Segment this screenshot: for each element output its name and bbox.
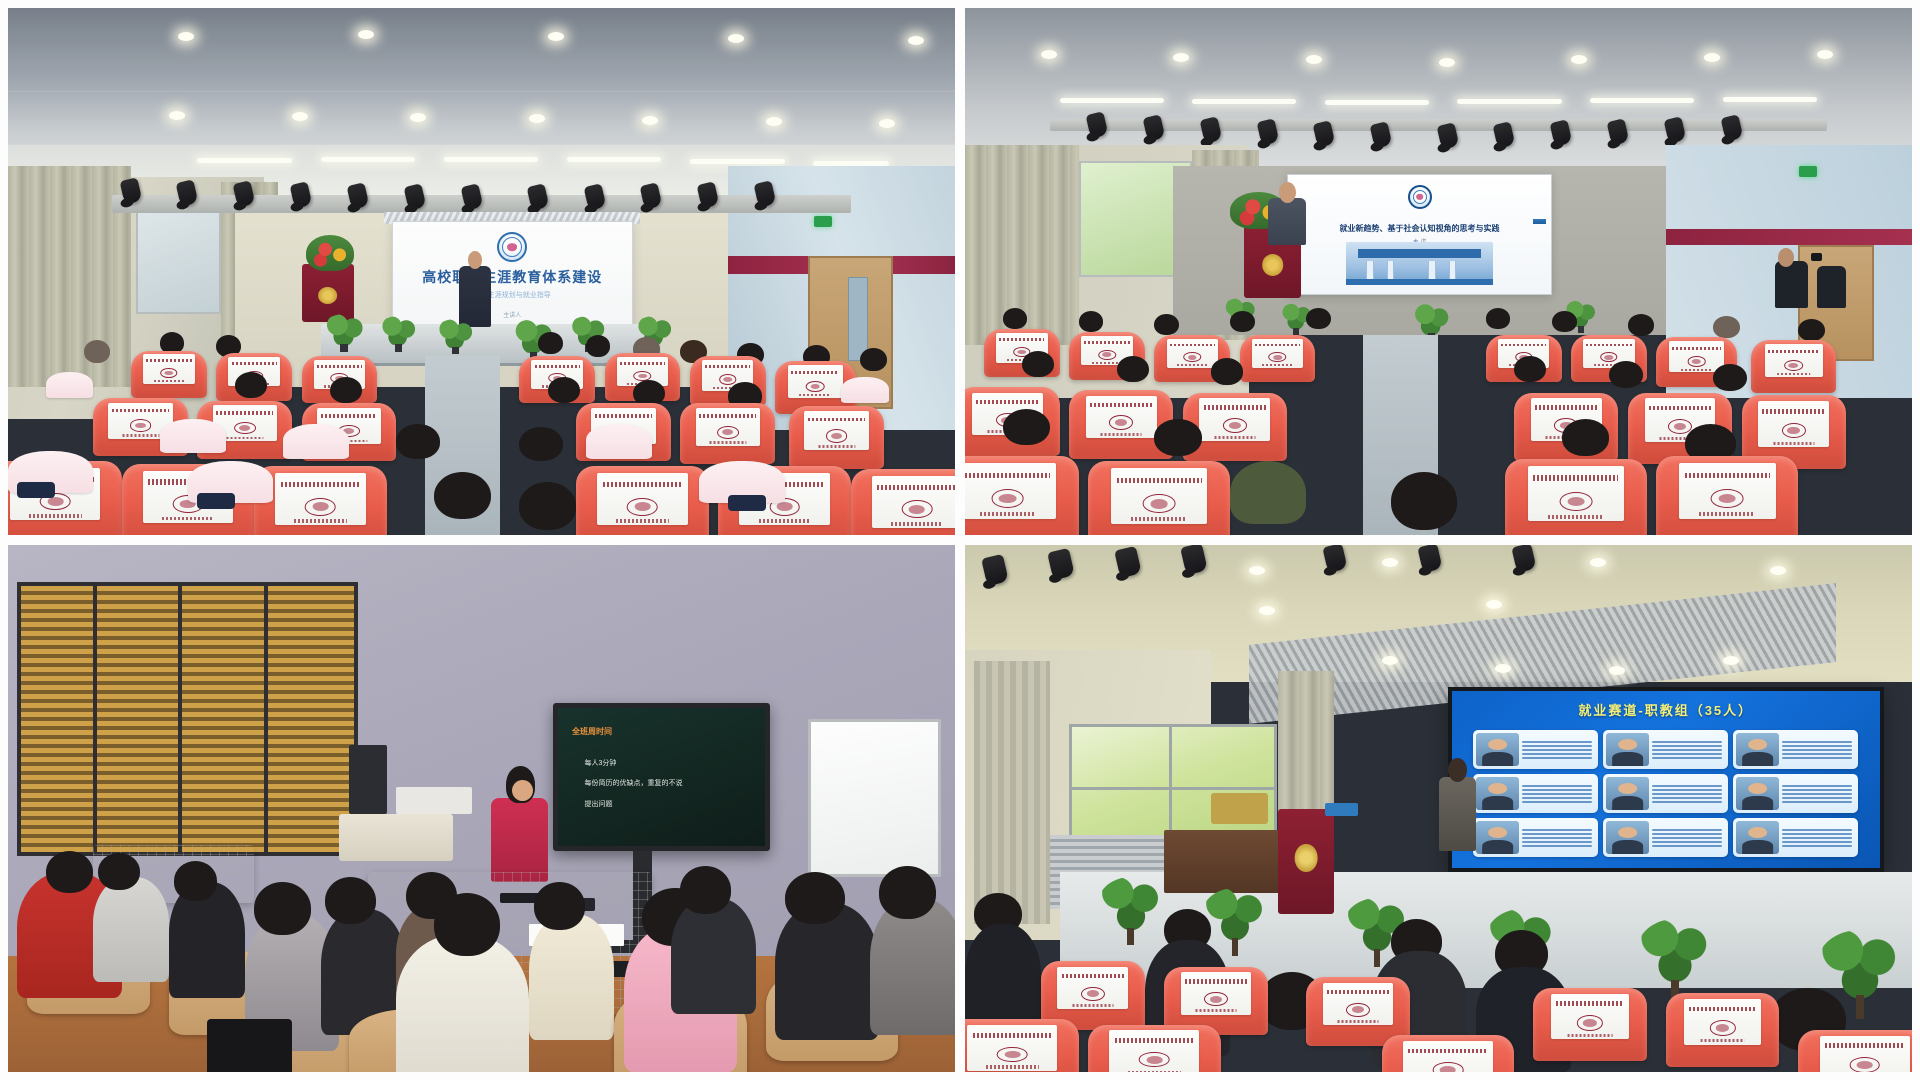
seat-banner (1684, 999, 1761, 1045)
equipment-cabinet (349, 745, 387, 814)
presenter-figure (491, 798, 548, 882)
seat-banner (275, 473, 365, 525)
nurse-cap (283, 424, 349, 458)
audience-head (1713, 316, 1740, 338)
seat-banner (1252, 339, 1304, 368)
attendee-head (98, 853, 140, 890)
window-blinds (17, 582, 358, 856)
meeting-room-scene: 全班周时间 每人3分钟 每份简历的优缺点，重复的不说 提出问题 (8, 545, 955, 1072)
photo-collage: 高校职业生涯教育体系建设 职业生涯规划与就业指导 主讲人 (0, 0, 1920, 1080)
audience-head (1154, 314, 1179, 335)
seat-banner (1765, 344, 1823, 377)
audience-head (548, 377, 580, 403)
audience-head (330, 377, 362, 403)
audience-head (1306, 308, 1331, 329)
audience-head (1211, 358, 1243, 384)
audience-head (1562, 419, 1609, 456)
led-hall-scene: 就业赛道-职教组（35人） (965, 545, 1912, 1072)
slide-line-2: 每份简历的优缺点，重复的不说 (585, 778, 683, 788)
audience-head (1230, 461, 1306, 524)
audience-head (633, 380, 665, 406)
handbag (207, 1019, 292, 1072)
seat-banner (1679, 463, 1776, 519)
auditorium-seat (851, 469, 955, 535)
audience-head (1003, 308, 1028, 329)
audience-head (1628, 314, 1655, 336)
seat-banner (143, 354, 195, 383)
seat-banner (1111, 468, 1208, 524)
audience-head (1079, 311, 1104, 332)
hair-bow (17, 482, 55, 498)
auditorium-seat (680, 403, 775, 464)
auditorium-seat (1382, 1035, 1515, 1072)
nurse-cap (586, 424, 652, 458)
wall-display[interactable]: 全班周时间 每人3分钟 每份简历的优缺点，重复的不说 提出问题 (553, 703, 771, 851)
nurse-cap (160, 419, 226, 453)
seat-banner (1403, 1041, 1493, 1072)
audience-head (396, 424, 440, 458)
attendee (529, 914, 614, 1040)
auditorium-seat (1505, 459, 1647, 535)
slide-line-1: 每人3分钟 (585, 758, 617, 768)
panel-top-left[interactable]: 高校职业生涯教育体系建设 职业生涯规划与就业指导 主讲人 (8, 8, 955, 535)
auditorium-seat (965, 456, 1079, 535)
attendee (169, 882, 245, 998)
hair-bow (197, 493, 235, 509)
auditorium-seat (1088, 461, 1230, 535)
seat-banner (965, 463, 1056, 519)
audience-head (1391, 472, 1457, 530)
audience-head (434, 472, 491, 519)
auditorium-seat (1656, 456, 1798, 535)
auditorium-seat (1666, 993, 1780, 1067)
audience-head (1609, 361, 1643, 388)
auditorium-seat (965, 1019, 1079, 1072)
display-screen: 全班周时间 每人3分钟 每份简历的优缺点，重复的不说 提出问题 (558, 708, 766, 846)
audience-head (84, 340, 111, 363)
panel-bottom-left[interactable]: 全班周时间 每人3分钟 每份简历的优缺点，重复的不说 提出问题 (8, 545, 955, 1072)
printer (396, 787, 472, 813)
audience-head (1713, 364, 1747, 391)
seat-banner (1551, 994, 1628, 1040)
audience-head (1552, 311, 1577, 332)
seat-banner (1086, 396, 1157, 438)
seat-banner (1323, 983, 1394, 1025)
panel-bottom-right[interactable]: 就业赛道-职教组（35人） (965, 545, 1912, 1072)
audience-head (1514, 356, 1546, 382)
audience-head (1022, 351, 1054, 377)
audience-head (1230, 311, 1255, 332)
audience-head (538, 332, 563, 354)
auditorium-seat (254, 466, 387, 535)
attendee (671, 898, 756, 1014)
panel-top-right[interactable]: 就业新趋势、基于社会认知视角的思考与实践 主 讲 (965, 8, 1912, 535)
nurse-cap (841, 377, 888, 403)
seat-banner (696, 408, 760, 446)
attendee (775, 903, 879, 1040)
nurse-cap (46, 372, 93, 398)
attendee-head (434, 893, 500, 956)
attendee-head (879, 866, 936, 919)
attendee-head (46, 851, 93, 893)
audience-head (1798, 319, 1825, 341)
attendee-head (785, 872, 846, 925)
attendee (93, 877, 169, 982)
whiteboard (808, 719, 941, 877)
seat-banner (804, 411, 868, 450)
seat-banner (1199, 398, 1270, 440)
seat-banner (967, 1025, 1057, 1071)
audience-head (235, 372, 267, 398)
attendee-head (534, 882, 585, 929)
audience-head (519, 427, 563, 461)
auditorium-scene-1: 高校职业生涯教育体系建设 职业生涯规划与就业指导 主讲人 (8, 8, 955, 535)
seating-area (8, 8, 955, 535)
auditorium-scene-2: 就业新趋势、基于社会认知视角的思考与实践 主 讲 (965, 8, 1912, 535)
seat-banner (788, 365, 843, 398)
audience-head (1154, 419, 1201, 456)
audience-head (1486, 308, 1511, 329)
window-mullion (93, 582, 97, 856)
audience-head (860, 348, 887, 371)
seat-banner (1057, 967, 1128, 1009)
seating-area (965, 8, 1912, 535)
seat-banner (1528, 466, 1625, 522)
audience-head (586, 335, 611, 357)
seat-banner (1181, 972, 1252, 1014)
seat-banner (872, 476, 955, 528)
audience-head (1003, 409, 1050, 446)
seat-banner (1820, 1036, 1910, 1072)
auditorium-seat (1088, 1025, 1221, 1072)
window-mullion (264, 582, 268, 856)
seating-area (965, 545, 1912, 1072)
auditorium-seat (1798, 1030, 1912, 1072)
slide-header: 全班周时间 (572, 726, 612, 737)
storage-basket (339, 814, 453, 861)
seat-banner (597, 473, 687, 525)
seat-banner (1669, 341, 1724, 372)
audience-head (1117, 356, 1149, 382)
seat-banner (1167, 339, 1219, 368)
attendee-head (680, 866, 731, 913)
auditorium-seat (576, 466, 709, 535)
seat-banner (1758, 401, 1829, 447)
audience-head (519, 482, 576, 529)
seat-banner (1109, 1030, 1199, 1072)
auditorium-seat (1533, 988, 1647, 1062)
slide-line-3: 提出问题 (585, 799, 613, 809)
auditorium-seat (1240, 335, 1316, 382)
auditorium-seat (1751, 340, 1836, 393)
auditorium-seat (131, 351, 207, 398)
attendee-head (254, 882, 311, 935)
hair-bow (728, 495, 766, 511)
attendee-head (174, 861, 218, 901)
window-mullion (178, 582, 182, 856)
attendee-head (325, 877, 376, 924)
auditorium-seat (789, 406, 884, 469)
presenter-face (512, 780, 533, 801)
